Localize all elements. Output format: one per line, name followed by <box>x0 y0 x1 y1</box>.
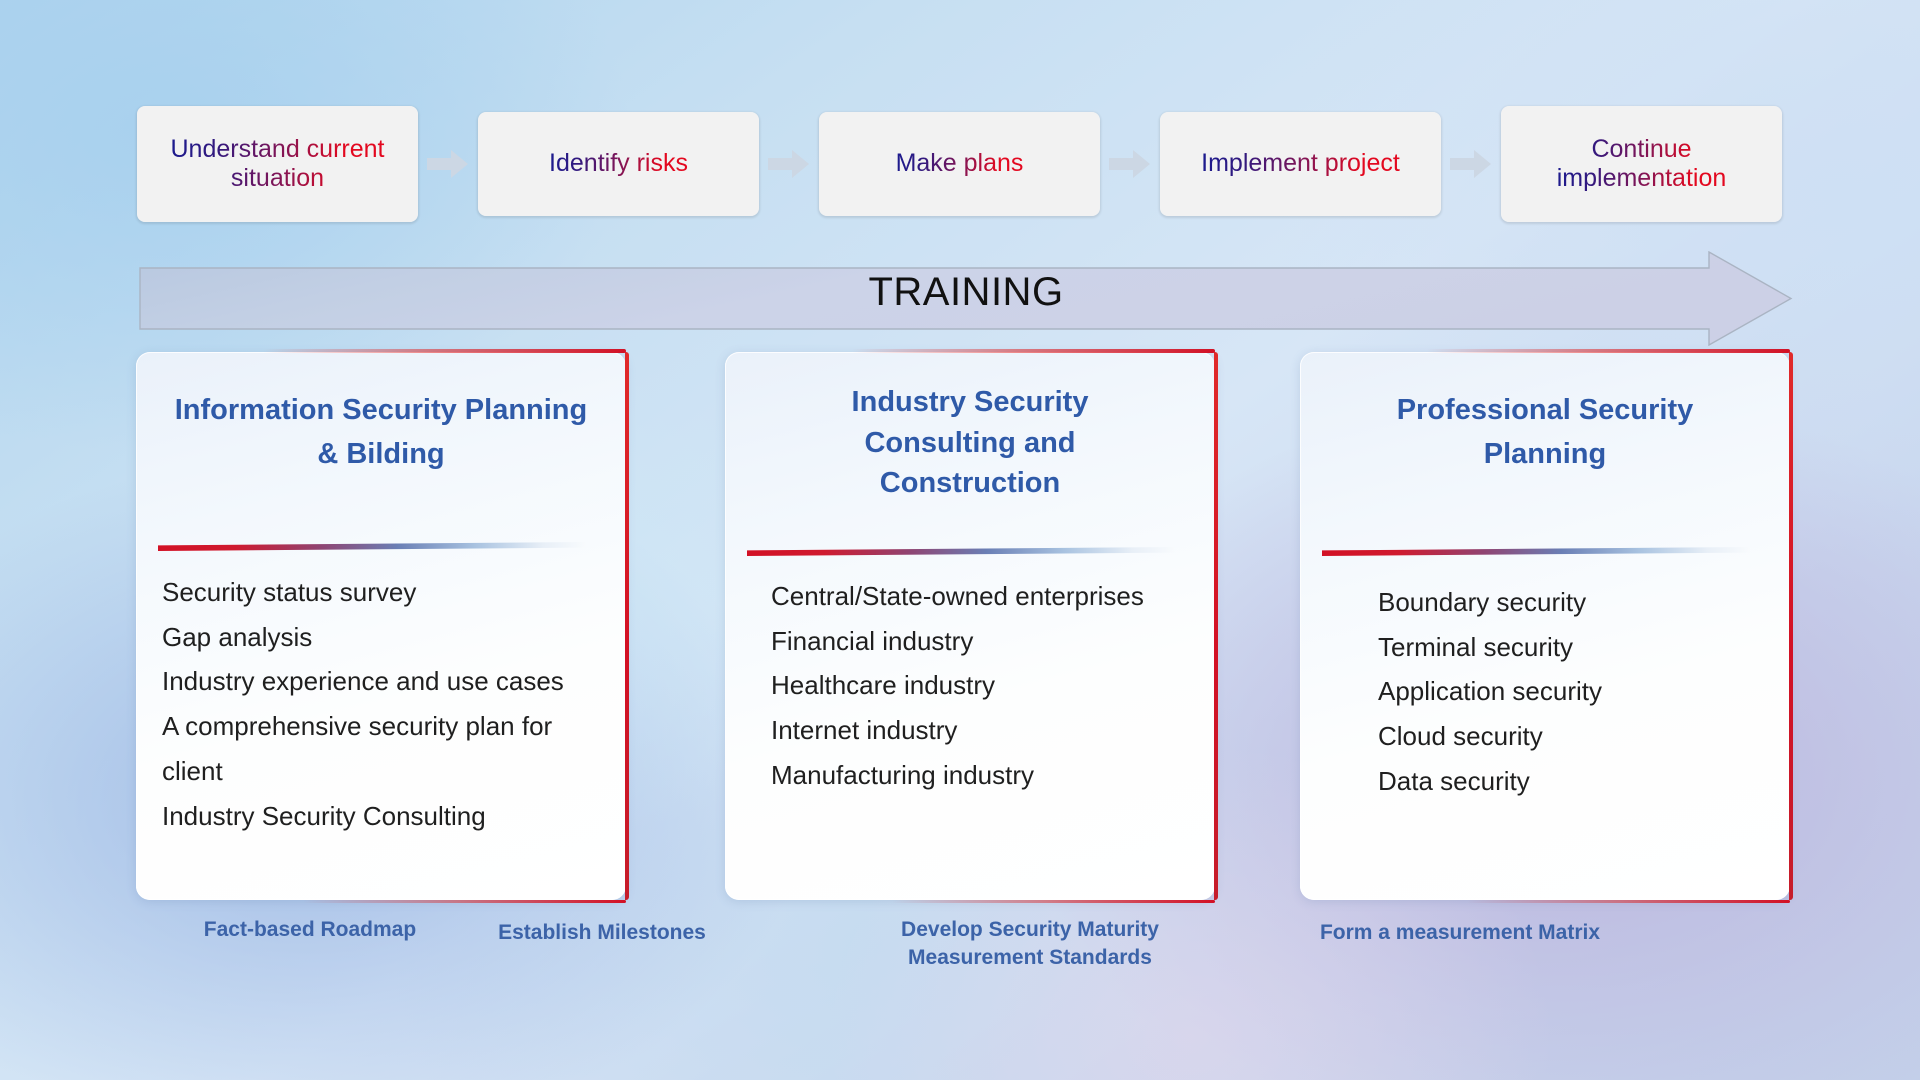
card-3-edge-red <box>1789 352 1793 900</box>
list-item: Data security <box>1378 759 1770 804</box>
flow-arrow-1-icon <box>427 149 469 179</box>
flow-arrow-3-icon <box>1109 149 1151 179</box>
card-1-edge-red-top <box>263 349 626 353</box>
cards-row: Information Security Planning & Bilding … <box>136 352 1790 902</box>
list-item: Boundary security <box>1378 580 1770 625</box>
flow-step-3[interactable]: Make plans <box>818 111 1101 217</box>
caption-form-measurement-matrix: Form a measurement Matrix <box>1250 919 1670 947</box>
caption-fact-based-roadmap: Fact-based Roadmap <box>160 916 460 944</box>
list-item: Financial industry <box>771 619 1195 664</box>
card-2-edge-red-bottom <box>892 900 1215 904</box>
card-2-edge-red <box>1214 352 1218 900</box>
card-2-title: Industry Security Consulting and Constru… <box>743 382 1197 504</box>
flow-step-1[interactable]: Understand current situation <box>136 105 419 223</box>
flow-step-4[interactable]: Implement project <box>1159 111 1442 217</box>
card-3-edge-red-top <box>1427 349 1790 353</box>
flow-step-2[interactable]: Identify risks <box>477 111 760 217</box>
card-information-security-planning[interactable]: Information Security Planning & Bilding … <box>136 352 626 900</box>
list-item: Central/State-owned enterprises <box>771 574 1195 619</box>
list-item: Internet industry <box>771 708 1195 753</box>
card-1-edge-red-bottom <box>303 900 626 904</box>
list-item: Terminal security <box>1378 625 1770 670</box>
card-industry-security-consulting[interactable]: Industry Security Consulting and Constru… <box>725 352 1215 900</box>
process-flow-row: Understand current situation Identify ri… <box>136 105 1788 223</box>
flow-step-3-label: Make plans <box>896 149 1024 179</box>
flow-arrow-2-icon <box>768 149 810 179</box>
card-professional-security-planning[interactable]: Professional Security Planning Boundary … <box>1300 352 1790 900</box>
card-1-title: Information Security Planning & Bilding <box>154 388 608 476</box>
card-3-title: Professional Security Planning <box>1318 388 1772 476</box>
training-banner: TRAINING <box>139 251 1793 346</box>
card-1-list: Security status survey Gap analysis Indu… <box>162 570 606 838</box>
card-3-edge-red-bottom <box>1467 900 1790 904</box>
list-item: Application security <box>1378 669 1770 714</box>
flow-step-5-label: Continue implementation <box>1557 135 1727 194</box>
card-1-edge-red <box>625 352 629 900</box>
flow-step-4-label: Implement project <box>1201 149 1400 179</box>
list-item: A comprehensive security plan for client <box>162 704 606 793</box>
card-3-list: Boundary security Terminal security Appl… <box>1378 580 1770 804</box>
flow-arrow-4-icon <box>1450 149 1492 179</box>
list-item: Industry Security Consulting <box>162 794 606 839</box>
card-2-list: Central/State-owned enterprises Financia… <box>771 574 1195 798</box>
list-item: Gap analysis <box>162 615 606 660</box>
list-item: Healthcare industry <box>771 663 1195 708</box>
list-item: Manufacturing industry <box>771 753 1195 798</box>
caption-establish-milestones: Establish Milestones <box>432 919 772 947</box>
flow-step-5[interactable]: Continue implementation <box>1500 105 1783 223</box>
list-item: Security status survey <box>162 570 606 615</box>
caption-develop-security-maturity: Develop Security Maturity Measurement St… <box>830 916 1230 971</box>
list-item: Industry experience and use cases <box>162 659 606 704</box>
flow-step-2-label: Identify risks <box>549 149 688 179</box>
card-2-edge-red-top <box>852 349 1215 353</box>
flow-step-1-label: Understand current situation <box>170 135 384 194</box>
training-label: TRAINING <box>139 270 1793 315</box>
list-item: Cloud security <box>1378 714 1770 759</box>
diagram-stage: Understand current situation Identify ri… <box>0 0 1920 1080</box>
